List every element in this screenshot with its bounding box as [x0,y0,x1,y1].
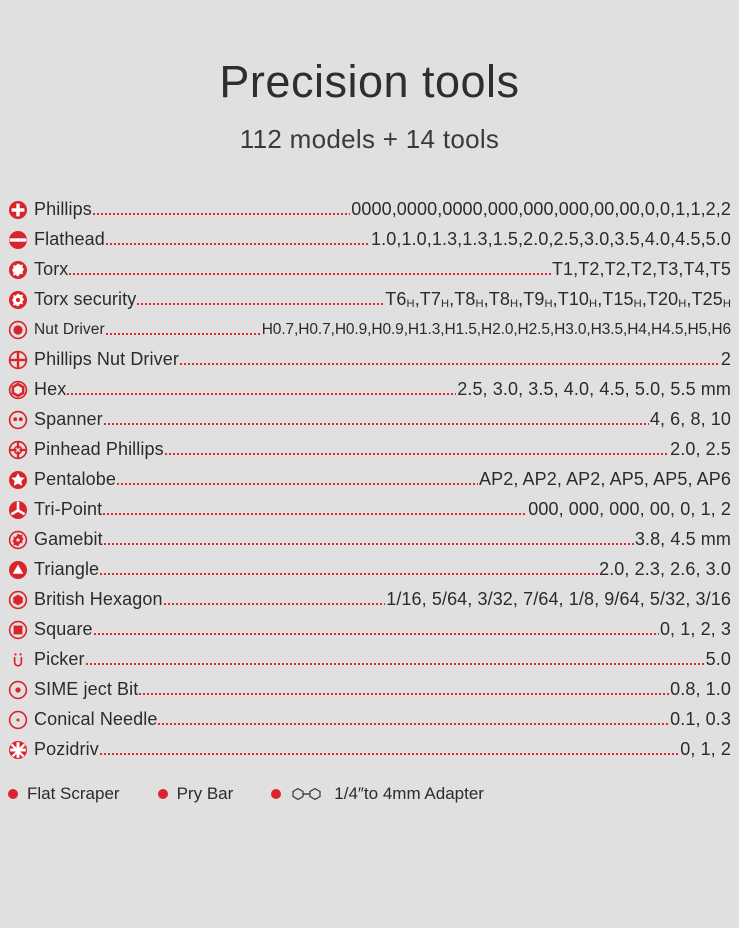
table-row: Flathead 1.0,1.0,1.3,1.3,1.5,2.0,2.5,3.0… [8,225,731,255]
pozidriv-icon [8,740,28,760]
tool-sizes: 1.0,1.0,1.3,1.3,1.5,2.0,2.5,3.0,3.5,4.0,… [371,229,731,250]
table-row: Conical Needle 0.1, 0.3 [8,705,731,735]
list-item: 1/4″to 4mm Adapter [271,784,484,804]
bullet-dot-icon [8,789,18,799]
tool-name: Pentalobe [34,469,116,490]
leader-dots [104,531,634,549]
table-row: SIME ject Bit 0.8, 1.0 [8,675,731,705]
leader-dots [67,381,456,399]
list-item: Pry Bar [158,784,234,804]
table-row: Torx security T6H,T7H,T8H,T8H,T9H,T10H,T… [8,285,731,315]
leader-dots [69,261,551,279]
leader-dots [106,231,370,249]
tool-name: Gamebit [34,529,103,550]
leader-dots [180,351,720,369]
triangle-icon [8,560,28,580]
hex-adapter-icon [290,786,332,802]
bullet-dot-icon [158,789,168,799]
tool-sizes: 5.0 [706,649,731,670]
pentalobe-icon [8,470,28,490]
table-row: Tri-Point 000, 000, 000, 00, 0, 1, 2 [8,495,731,525]
leader-dots [100,741,679,759]
leader-dots [117,471,478,489]
table-row: Triangle 2.0, 2.3, 2.6, 3.0 [8,555,731,585]
page-subtitle: 112 models + 14 tools [0,124,739,155]
table-row: Spanner 4, 6, 8, 10 [8,405,731,435]
tool-name: Nut Driver [34,321,105,339]
extra-tool-name: 1/4″to 4mm Adapter [334,784,484,804]
tool-name: British Hexagon [34,589,163,610]
tool-name: Square [34,619,93,640]
page-title: Precision tools [0,56,739,108]
leader-dots [93,201,350,219]
tool-name: Flathead [34,229,105,250]
extra-tool-name: Flat Scraper [27,784,120,804]
tool-sizes: 2.5, 3.0, 3.5, 4.0, 4.5, 5.0, 5.5 mm [457,379,731,400]
tool-sizes: 2.0, 2.3, 2.6, 3.0 [599,559,731,580]
tool-name: Tri-Point [34,499,102,520]
pinhead-phillips-icon [8,440,28,460]
conical-needle-icon [8,710,28,730]
tool-sizes: 0000,0000,0000,000,000,000,00,00,0,0,1,1… [351,199,731,220]
tool-name: Torx security [34,289,136,310]
table-row: Torx T1,T2,T2,T2,T3,T4,T5 [8,255,731,285]
leader-dots [100,561,598,579]
tool-sizes: 0, 1, 2 [680,739,731,760]
tool-name: Pinhead Phillips [34,439,164,460]
tool-sizes: T1,T2,T2,T2,T3,T4,T5 [552,259,731,280]
tool-name: Hex [34,379,66,400]
tool-name: Triangle [34,559,99,580]
table-row: Picker 5.0 [8,645,731,675]
torx-icon [8,260,28,280]
tool-sizes: 000, 000, 000, 00, 0, 1, 2 [528,499,731,520]
tool-name: Torx [34,259,68,280]
leader-dots [137,291,384,309]
torx-security-icon [8,290,28,310]
table-row: Phillips Nut Driver 2 [8,345,731,375]
picker-icon [8,650,28,670]
leader-dots [86,651,705,669]
tool-name: SIME ject Bit [34,679,138,700]
tool-sizes: 1/16, 5/64, 3/32, 7/64, 1/8, 9/64, 5/32,… [386,589,731,610]
table-row: Pentalobe AP2, AP2, AP2, AP5, AP5, AP6 [8,465,731,495]
extra-tool-name: Pry Bar [177,784,234,804]
leader-dots [139,681,669,699]
tool-name: Phillips Nut Driver [34,349,179,370]
leader-dots [94,621,659,639]
tool-sizes: H0.7,H0.7,H0.9,H0.9,H1.3,H1.5,H2.0,H2.5,… [262,321,731,339]
tool-sizes: AP2, AP2, AP2, AP5, AP5, AP6 [479,469,731,490]
tool-name: Spanner [34,409,103,430]
gamebit-icon [8,530,28,550]
table-row: Pozidriv 0, 1, 2 [8,735,731,765]
tool-name: Pozidriv [34,739,99,760]
nut-driver-icon [8,320,28,340]
phillips-icon [8,200,28,220]
precision-tools-poster: Precision tools 112 models + 14 tools Ph… [0,0,739,928]
leader-dots [165,441,669,459]
table-row: British Hexagon 1/16, 5/64, 3/32, 7/64, … [8,585,731,615]
flathead-icon [8,230,28,250]
table-row: Nut Driver H0.7,H0.7,H0.9,H0.9,H1.3,H1.5… [8,315,731,345]
tri-point-icon [8,500,28,520]
bullet-dot-icon [271,789,281,799]
tool-sizes: 2 [721,349,731,370]
tool-sizes: 4, 6, 8, 10 [650,409,731,430]
hex-icon [8,380,28,400]
british-hexagon-icon [8,590,28,610]
tool-sizes: 2.0, 2.5 [670,439,731,460]
leader-dots [106,321,261,339]
sim-eject-bit-icon [8,680,28,700]
leader-dots [164,591,386,609]
footer-extras: Flat Scraper Pry Bar 1/4″to 4mm Adapter [0,779,739,809]
tool-sizes: 3.8, 4.5 mm [635,529,731,550]
tool-name: Conical Needle [34,709,157,730]
tool-name: Phillips [34,199,92,220]
table-row: Gamebit 3.8, 4.5 mm [8,525,731,555]
tool-list: Phillips 0000,0000,0000,000,000,000,00,0… [0,195,739,765]
table-row: Phillips 0000,0000,0000,000,000,000,00,0… [8,195,731,225]
tool-sizes: 0.1, 0.3 [670,709,731,730]
tool-sizes: 0, 1, 2, 3 [660,619,731,640]
table-row: Square 0, 1, 2, 3 [8,615,731,645]
square-icon [8,620,28,640]
table-row: Hex 2.5, 3.0, 3.5, 4.0, 4.5, 5.0, 5.5 mm [8,375,731,405]
tool-name: Picker [34,649,85,670]
header: Precision tools 112 models + 14 tools [0,0,739,155]
leader-dots [104,411,649,429]
phillips-nut-driver-icon [8,350,28,370]
leader-dots [103,501,527,519]
tool-sizes: 0.8, 1.0 [670,679,731,700]
table-row: Pinhead Phillips 2.0, 2.5 [8,435,731,465]
tool-sizes: T6H,T7H,T8H,T8H,T9H,T10H,T15H,T20H,T25H [385,289,731,310]
spanner-icon [8,410,28,430]
list-item: Flat Scraper [8,784,120,804]
leader-dots [158,711,669,729]
